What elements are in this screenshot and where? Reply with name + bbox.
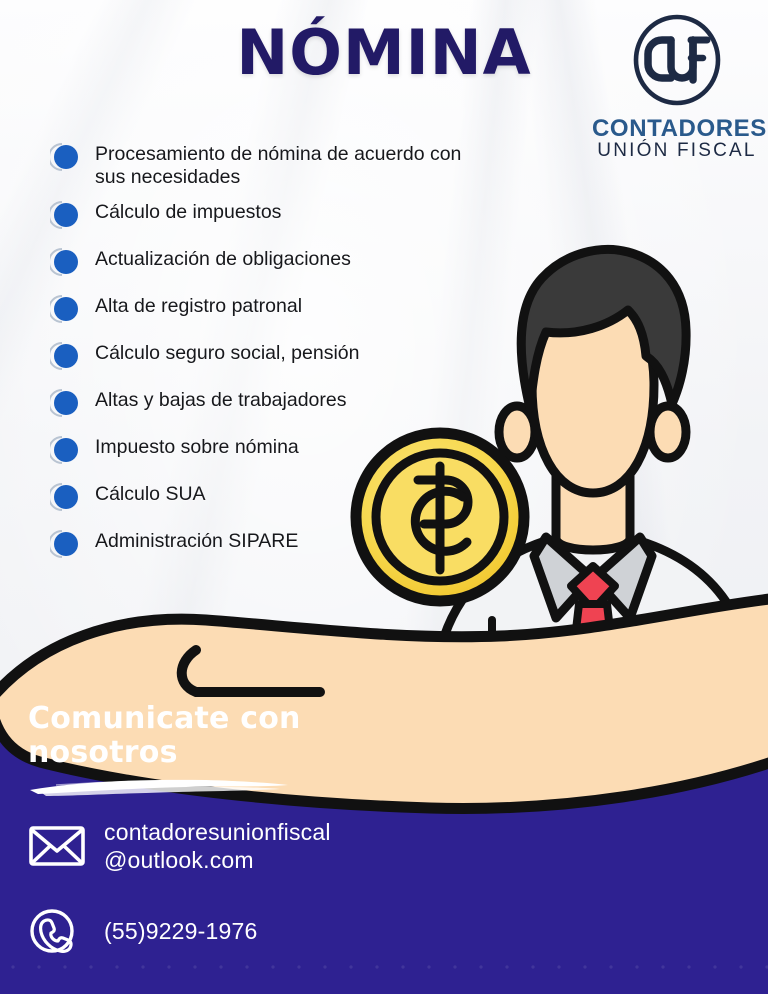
envelope-icon [28,823,86,869]
bullet-circle-icon [50,482,80,512]
bullet-circle-icon [50,142,80,172]
list-item: Impuesto sobre nómina [50,433,480,480]
list-item: Cálculo de impuestos [50,198,480,245]
phone-icon [28,908,86,954]
list-item-label: Cálculo de impuestos [95,198,480,224]
brand-logo: CONTADORES UNIÓN FISCAL [592,14,762,162]
bullet-circle-icon [50,388,80,418]
list-item: Cálculo seguro social, pensión [50,339,480,386]
cuf-monogram-circle-icon [627,14,727,114]
email-line-2: @outlook.com [104,846,331,874]
bullet-circle-icon [50,247,80,277]
list-item: Altas y bajas de trabajadores [50,386,480,433]
list-item-label: Procesamiento de nómina de acuerdo con s… [95,140,480,189]
list-item-label: Cálculo SUA [95,480,480,506]
decorative-dot-row [0,962,768,972]
logo-subtitle: UNIÓN FISCAL [592,141,762,162]
phone-value: (55)9229-1976 [104,917,258,945]
poster-canvas: NÓMINA CONTADORES UNIÓN FISCAL [0,0,768,994]
email-line-1: contadoresunionfiscal [104,818,331,846]
contact-row-phone[interactable]: (55)9229-1976 [28,908,258,954]
list-item-label: Cálculo seguro social, pensión [95,339,480,365]
email-value: contadoresunionfiscal @outlook.com [104,818,331,874]
brush-underline [26,774,296,800]
list-item: Administración SIPARE [50,527,480,574]
list-item-label: Actualización de obligaciones [95,245,480,271]
bullet-circle-icon [50,200,80,230]
list-item: Alta de registro patronal [50,292,480,339]
services-list: Procesamiento de nómina de acuerdo con s… [50,140,480,574]
list-item-label: Alta de registro patronal [95,292,480,318]
bullet-circle-icon [50,294,80,324]
list-item: Actualización de obligaciones [50,245,480,292]
bullet-circle-icon [50,529,80,559]
bullet-circle-icon [50,341,80,371]
list-item: Procesamiento de nómina de acuerdo con s… [50,140,480,198]
contact-row-email[interactable]: contadoresunionfiscal @outlook.com [28,818,331,874]
list-item-label: Impuesto sobre nómina [95,433,480,459]
list-item-label: Administración SIPARE [95,527,480,553]
contact-heading: Comunicate con nosotros [28,702,328,769]
list-item-label: Altas y bajas de trabajadores [95,386,480,412]
logo-name: CONTADORES [592,116,762,141]
list-item: Cálculo SUA [50,480,480,527]
bullet-circle-icon [50,435,80,465]
